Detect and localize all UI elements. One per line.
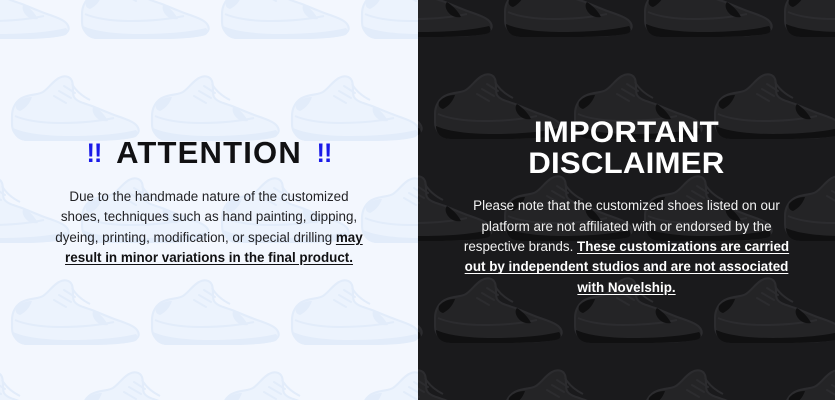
disclaimer-title-line-1: IMPORTANT bbox=[528, 118, 724, 149]
attention-body: Due to the handmade nature of the custom… bbox=[49, 187, 369, 269]
attention-heading: !! ATTENTION !! bbox=[86, 135, 332, 171]
attention-body-normal: Due to the handmade nature of the custom… bbox=[55, 189, 357, 245]
attention-title: ATTENTION bbox=[116, 135, 302, 171]
exclamation-right-icon: !! bbox=[317, 138, 332, 169]
disclaimer-title-line-2: DISCLAIMER bbox=[528, 149, 724, 180]
disclaimer-panel: IMPORTANT DISCLAIMER Please note that th… bbox=[418, 0, 835, 400]
disclaimer-heading: IMPORTANT DISCLAIMER bbox=[532, 118, 721, 179]
attention-panel: !! ATTENTION !! Due to the handmade natu… bbox=[0, 0, 418, 400]
disclaimer-banner: !! ATTENTION !! Due to the handmade natu… bbox=[0, 0, 835, 400]
disclaimer-body: Please note that the customized shoes li… bbox=[464, 196, 790, 298]
exclamation-left-icon: !! bbox=[87, 138, 102, 169]
